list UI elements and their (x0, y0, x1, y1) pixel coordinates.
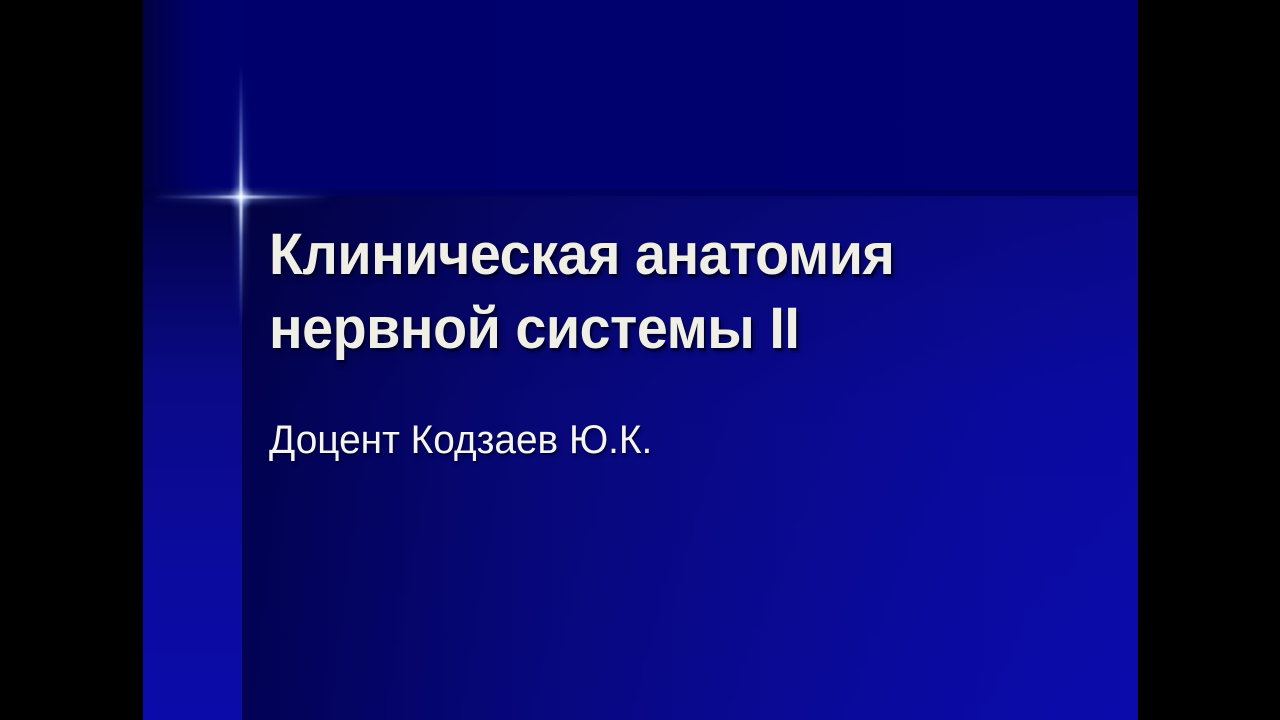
presentation-slide: Клиническая анатомия нервной системы II … (143, 0, 1138, 720)
slide-background-top-left (143, 0, 242, 196)
slide-background-top-right (242, 0, 1138, 196)
slide-subtitle: Доцент Кодзаев Ю.К. (269, 416, 652, 464)
letterbox-bar-left (0, 0, 143, 720)
slide-background-bottom-left (143, 196, 242, 720)
star-center-glow (229, 185, 253, 209)
letterbox-bar-right (1138, 0, 1280, 720)
slide-title: Клиническая анатомия нервной системы II (269, 218, 1056, 366)
slide-text-block: Клиническая анатомия нервной системы II … (269, 218, 1089, 366)
video-frame: Клиническая анатомия нервной системы II … (0, 0, 1280, 720)
